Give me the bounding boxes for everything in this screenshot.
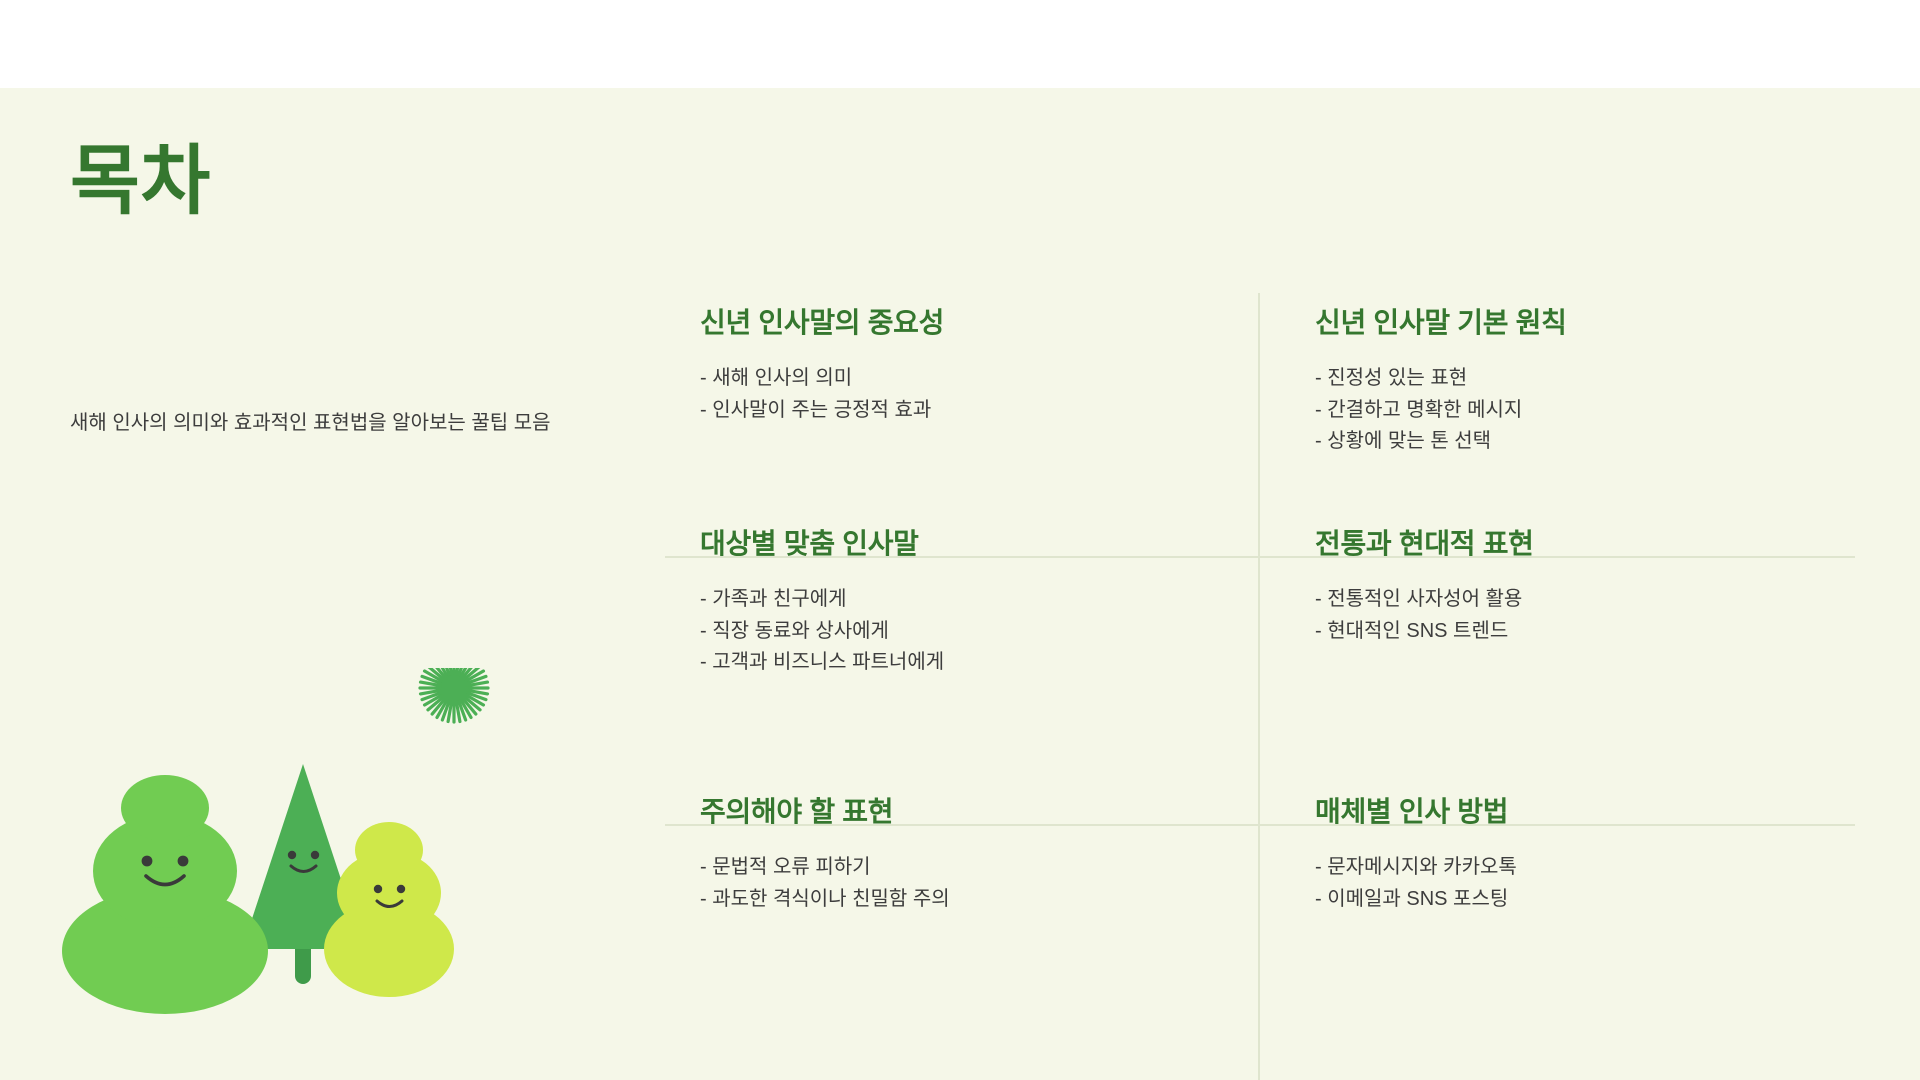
toc-item: - 고객과 비즈니스 파트너에게 [700, 647, 1200, 679]
toc-item: - 상황에 맞는 톤 선택 [1315, 426, 1795, 458]
toc-item: - 직장 동료와 상사에게 [700, 616, 1200, 648]
tree-illustration [40, 668, 600, 1028]
page-title: 목차 [70, 144, 211, 220]
toc-item: - 새해 인사의 의미 [700, 363, 1200, 395]
toc-section-5-heading: 주의해야 할 표현 [700, 790, 1200, 830]
toc-item: - 인사말이 주는 긍정적 효과 [700, 395, 1200, 427]
toc-item: - 과도한 격식이나 친밀함 주의 [700, 884, 1200, 916]
toc-section-3-heading: 대상별 맞춤 인사말 [700, 522, 1200, 562]
toc-section-6-heading: 매체별 인사 방법 [1315, 790, 1795, 830]
toc-section-3[interactable]: 대상별 맞춤 인사말 - 가족과 친구에게 - 직장 동료와 상사에게 - 고객… [665, 474, 1260, 742]
toc-section-3-items: - 가족과 친구에게 - 직장 동료와 상사에게 - 고객과 비즈니스 파트너에… [700, 584, 1200, 679]
toc-item: - 진정성 있는 표현 [1315, 363, 1795, 395]
starburst-icon [420, 668, 488, 722]
slide-canvas: 목차 새해 인사의 의미와 효과적인 표현법을 알아보는 꿀팁 모음 [0, 88, 1920, 1080]
toc-item: - 이메일과 SNS 포스팅 [1315, 884, 1795, 916]
tree-large-green-icon [62, 775, 268, 1014]
toc-section-2-heading: 신년 인사말 기본 원칙 [1315, 301, 1795, 341]
toc-section-5-items: - 문법적 오류 피하기 - 과도한 격식이나 친밀함 주의 [700, 852, 1200, 915]
toc-item: - 간결하고 명확한 메시지 [1315, 395, 1795, 427]
toc-section-5[interactable]: 주의해야 할 표현 - 문법적 오류 피하기 - 과도한 격식이나 친밀함 주의 [665, 742, 1260, 1010]
toc-section-1[interactable]: 신년 인사말의 중요성 - 새해 인사의 의미 - 인사말이 주는 긍정적 효과 [665, 206, 1260, 474]
toc-grid: 신년 인사말의 중요성 - 새해 인사의 의미 - 인사말이 주는 긍정적 효과… [665, 206, 1855, 1012]
toc-section-2-items: - 진정성 있는 표현 - 간결하고 명확한 메시지 - 상황에 맞는 톤 선택 [1315, 363, 1795, 458]
toc-section-2[interactable]: 신년 인사말 기본 원칙 - 진정성 있는 표현 - 간결하고 명확한 메시지 … [1260, 206, 1855, 474]
toc-section-4-items: - 전통적인 사자성어 활용 - 현대적인 SNS 트렌드 [1315, 584, 1795, 647]
page-subtitle: 새해 인사의 의미와 효과적인 표현법을 알아보는 꿀팁 모음 [70, 408, 630, 438]
toc-section-1-items: - 새해 인사의 의미 - 인사말이 주는 긍정적 효과 [700, 363, 1200, 426]
toc-section-4-heading: 전통과 현대적 표현 [1315, 522, 1795, 562]
toc-section-1-heading: 신년 인사말의 중요성 [700, 301, 1200, 341]
tree-right-yellow-icon [324, 822, 454, 997]
toc-item: - 가족과 친구에게 [700, 584, 1200, 616]
toc-item: - 문법적 오류 피하기 [700, 852, 1200, 884]
toc-section-4[interactable]: 전통과 현대적 표현 - 전통적인 사자성어 활용 - 현대적인 SNS 트렌드 [1260, 474, 1855, 742]
top-white-band [0, 0, 1920, 88]
toc-section-6-items: - 문자메시지와 카카오톡 - 이메일과 SNS 포스팅 [1315, 852, 1795, 915]
toc-section-6[interactable]: 매체별 인사 방법 - 문자메시지와 카카오톡 - 이메일과 SNS 포스팅 [1260, 742, 1855, 1010]
toc-item: - 현대적인 SNS 트렌드 [1315, 616, 1795, 648]
toc-item: - 문자메시지와 카카오톡 [1315, 852, 1795, 884]
toc-item: - 전통적인 사자성어 활용 [1315, 584, 1795, 616]
